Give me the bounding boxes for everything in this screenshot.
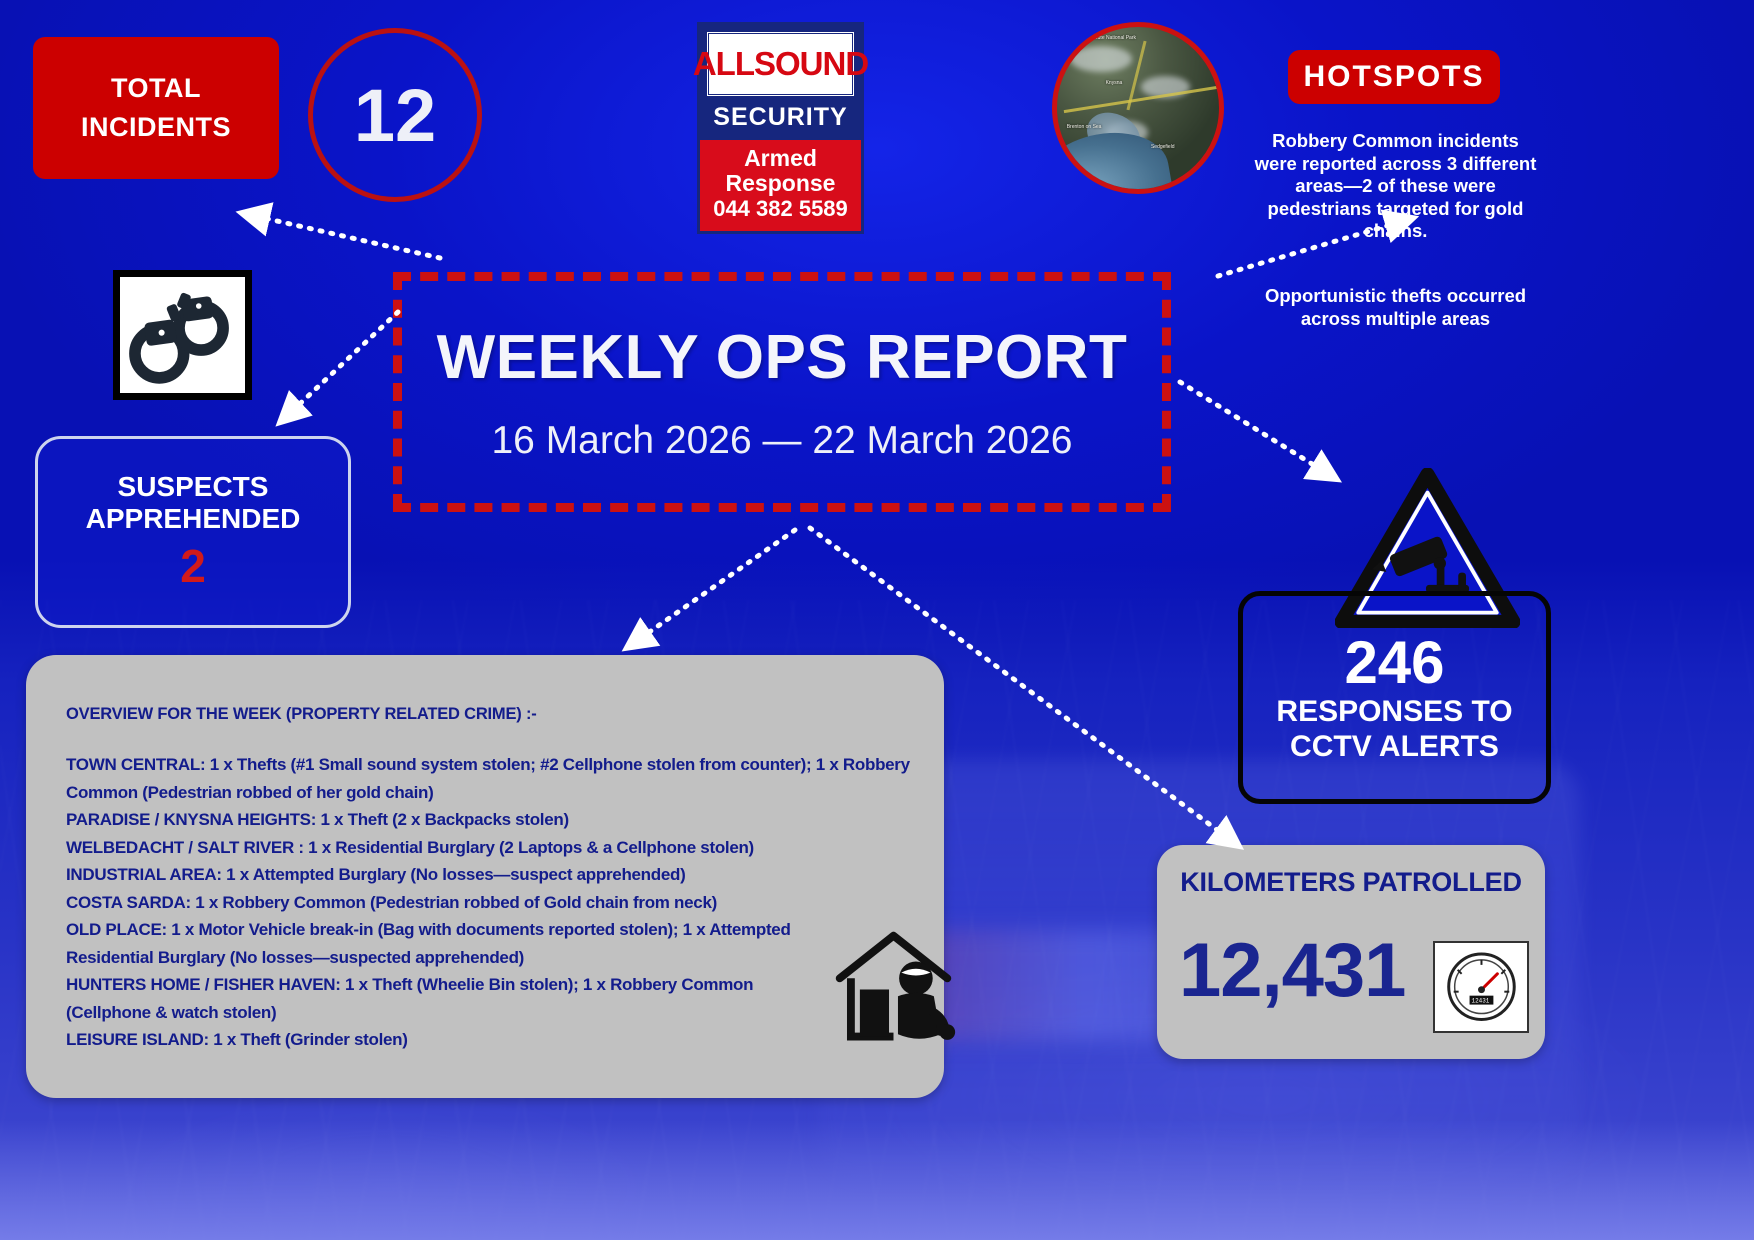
logo-brand-text: ALLSOUND [693,45,868,83]
logo-armed-text: Armed [700,146,861,170]
arrow-to-cctv-sign [1180,382,1325,472]
list-item: WELBEDACHT / SALT RIVER : 1 x Residentia… [66,834,926,862]
map-label-1: Knysna [1106,80,1123,86]
hotspots-badge: HOTSPOTS [1288,50,1500,104]
total-incidents-label-line1: TOTAL [81,69,231,108]
list-item: LEISURE ISLAND: 1 x Theft (Grinder stole… [66,1026,926,1054]
list-item: OLD PLACE: 1 x Motor Vehicle break-in (B… [66,916,926,944]
satellite-map-icon: Garden Route National Park Knysna Brento… [1052,22,1224,194]
infographic-canvas: TOTAL INCIDENTS 12 ALLSOUND SECURITY Arm… [0,0,1754,1240]
arrow-to-total-incidents [255,216,440,258]
hotspots-note-opportunistic: Opportunistic thefts occurred across mul… [1253,285,1538,330]
overview-heading: OVERVIEW FOR THE WEEK (PROPERTY RELATED … [66,705,537,724]
logo-armed-response-bar: Armed Response 044 382 5589 [700,140,861,231]
total-incidents-badge: TOTAL INCIDENTS [33,37,279,179]
handcuffs-icon [113,270,252,400]
suspects-value: 2 [180,539,206,593]
hotspots-note-robbery: Robbery Common incidents were reported a… [1253,130,1538,243]
cctv-responses-value: 246 [1344,633,1444,693]
hotspots-badge-label: HOTSPOTS [1303,55,1484,99]
report-date-range: 16 March 2026 — 22 March 2026 [491,419,1072,463]
logo-phone-number: 044 382 5589 [700,196,861,222]
total-incidents-value-circle: 12 [308,28,482,202]
list-item: INDUSTRIAL AREA: 1 x Attempted Burglary … [66,861,926,889]
background-bottom-fade [0,1120,1754,1240]
burglar-house-icon [826,920,961,1050]
list-item: HUNTERS HOME / FISHER HAVEN: 1 x Theft (… [66,971,926,999]
suspects-label-line2: APPREHENDED [86,503,301,535]
cctv-responses-label-line1: RESPONSES TO [1276,695,1512,728]
list-item: COSTA SARDA: 1 x Robbery Common (Pedestr… [66,889,926,917]
speedometer-icon: 12431 [1433,941,1529,1033]
allsound-security-logo: ALLSOUND SECURITY Armed Response 044 382… [697,22,864,234]
total-incidents-value: 12 [354,73,436,158]
kilometers-patrolled-card: KILOMETERS PATROLLED 12,431 12431 [1157,845,1545,1059]
suspects-apprehended-card: SUSPECTS APPREHENDED 2 [35,436,351,628]
page-title: WEEKLY OPS REPORT [437,322,1128,393]
list-item: Common (Pedestrian robbed of her gold ch… [66,779,926,807]
list-item: (Cellphone & watch stolen) [66,999,926,1027]
cctv-responses-card: 246 RESPONSES TO CCTV ALERTS [1238,591,1551,804]
map-label-2: Brenton on Sea [1067,124,1102,130]
list-item: Residential Burglary (No losses—suspecte… [66,944,926,972]
report-title-box: WEEKLY OPS REPORT 16 March 2026 — 22 Mar… [393,272,1171,512]
overview-card: OVERVIEW FOR THE WEEK (PROPERTY RELATED … [26,655,944,1098]
map-label-0: Garden Route National Park [1073,35,1136,41]
map-ocean [1052,123,1172,194]
kilometers-patrolled-label: KILOMETERS PATROLLED [1157,867,1545,898]
logo-brand-plate: ALLSOUND [706,31,855,97]
arrow-to-handcuffs [290,312,398,413]
cctv-responses-label-line2: CCTV ALERTS [1290,730,1499,763]
arrow-to-overview [638,530,795,640]
list-item: TOWN CENTRAL: 1 x Thefts (#1 Small sound… [66,751,926,779]
map-label-3: Sedgefield [1151,144,1175,150]
suspects-label-line1: SUSPECTS [118,471,269,503]
overview-incident-list: TOWN CENTRAL: 1 x Thefts (#1 Small sound… [66,751,926,1054]
total-incidents-label-line2: INCIDENTS [81,108,231,147]
logo-response-text: Response [700,171,861,195]
kilometers-patrolled-value: 12,431 [1179,927,1405,1014]
logo-security-text: SECURITY [700,101,861,140]
list-item: PARADISE / KNYSNA HEIGHTS: 1 x Theft (2 … [66,806,926,834]
svg-text:12431: 12431 [1471,998,1489,1005]
